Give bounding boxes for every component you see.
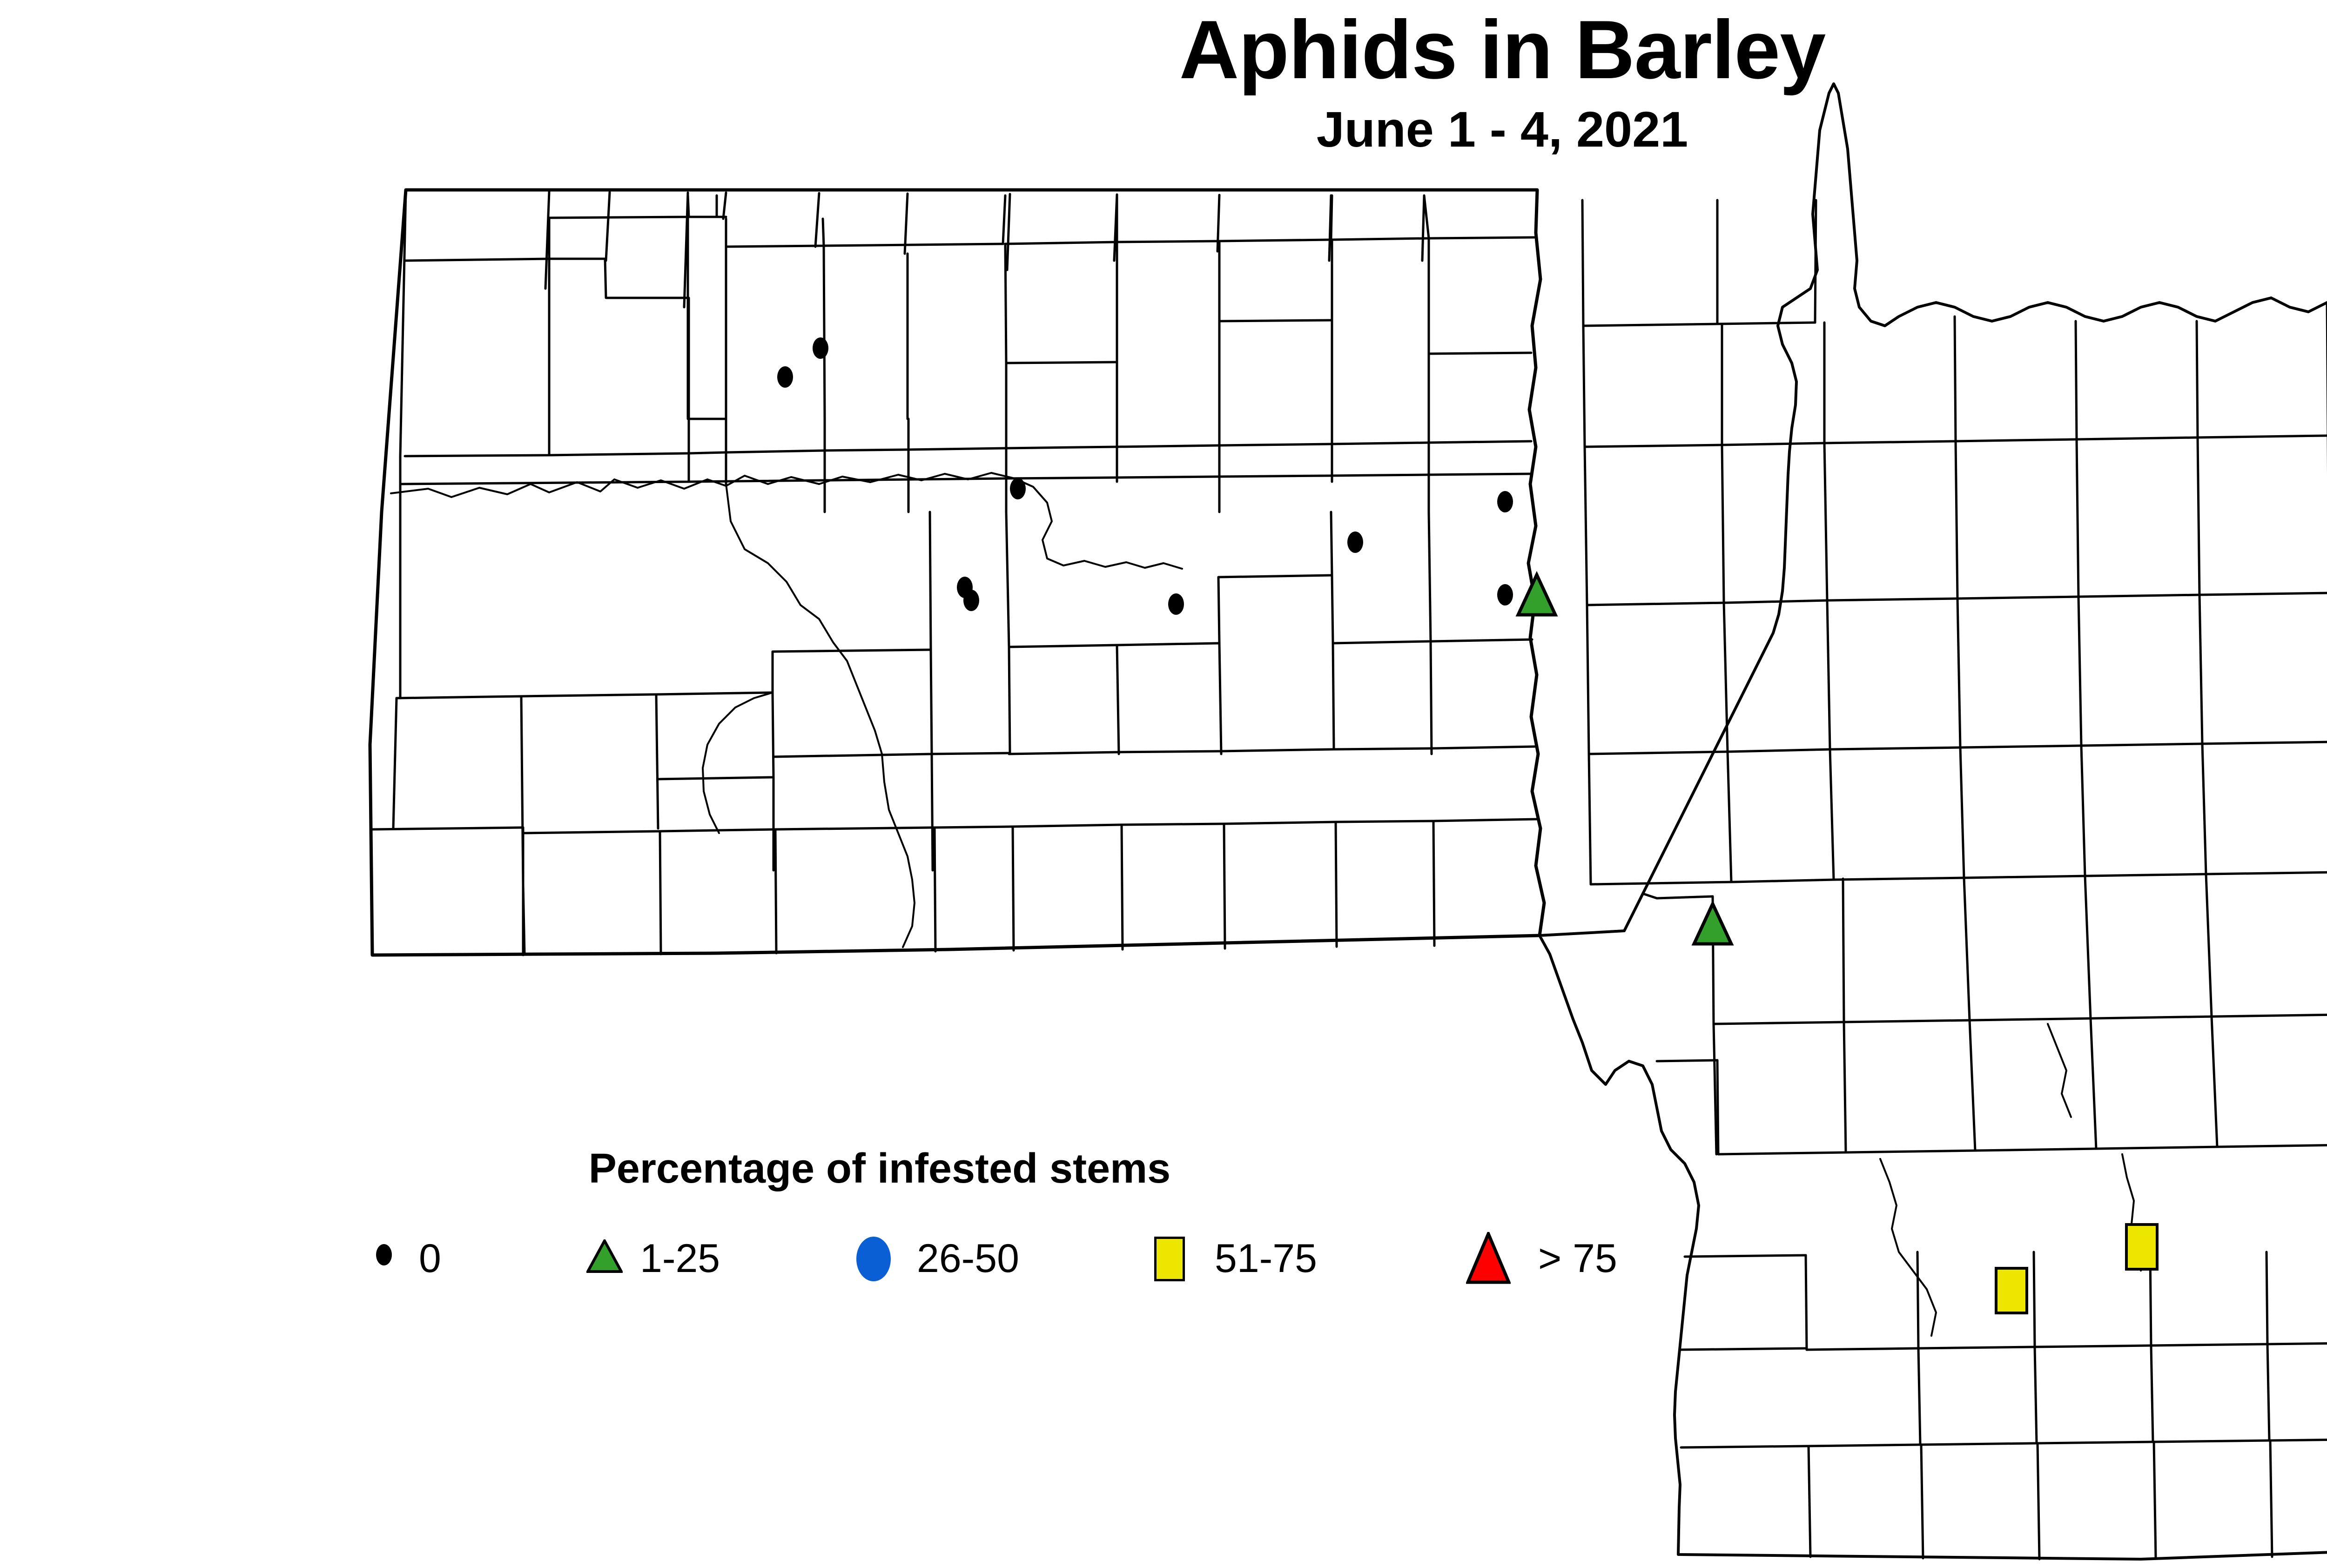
legend-symbol-triangle-red	[1466, 1232, 1511, 1284]
legend-symbol-circle-blue	[856, 1237, 891, 1281]
marker-square	[2126, 1225, 2157, 1269]
legend-title: Percentage of infested stems	[326, 1145, 1433, 1193]
map-legend: Percentage of infested stems 0 1-25 26-5…	[326, 1145, 1769, 1299]
legend-label-3: 51-75	[1215, 1238, 1317, 1279]
legend-label-4: > 75	[1538, 1238, 1617, 1279]
marker-dot	[1347, 532, 1363, 553]
marker-dot	[1010, 478, 1026, 499]
marker-dot	[777, 366, 793, 388]
legend-label-0: 0	[419, 1238, 441, 1279]
marker-dot	[1168, 593, 1184, 615]
marker-triangle	[1694, 904, 1731, 944]
marker-dot	[1497, 491, 1513, 512]
map-canvas	[0, 0, 2327, 1568]
legend-symbol-square-yellow	[1154, 1237, 1185, 1281]
marker-dot	[1497, 584, 1513, 606]
legend-label-2: 26-50	[917, 1238, 1019, 1279]
minnesota-counties	[1540, 84, 2327, 1559]
legend-symbol-triangle-green	[586, 1239, 623, 1273]
marker-triangle	[1518, 575, 1555, 615]
marker-dot	[813, 337, 828, 359]
map-figure: Aphids in Barley June 1 - 4, 2021	[0, 0, 2327, 1568]
marker-dot	[963, 590, 979, 611]
north-dakota-counties	[370, 190, 1544, 955]
legend-symbol-dot	[376, 1244, 392, 1265]
marker-square	[1996, 1268, 2027, 1313]
legend-label-1: 1-25	[640, 1238, 720, 1279]
